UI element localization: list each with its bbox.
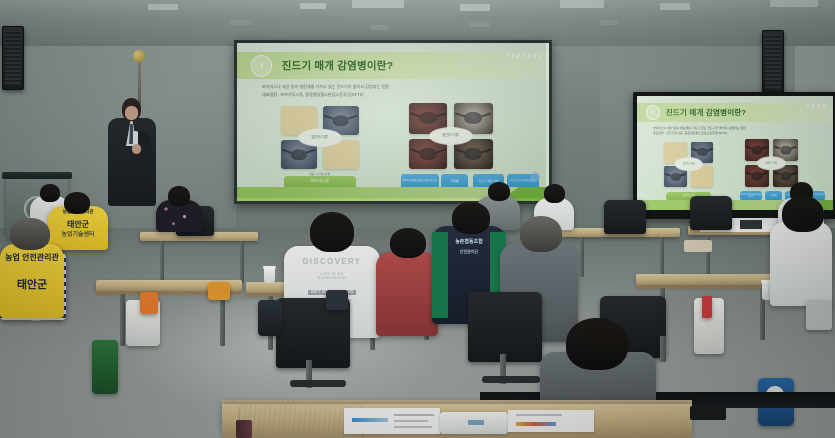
monitor-slide-number-badge: I bbox=[646, 105, 660, 119]
ceiling-light bbox=[560, 0, 604, 8]
attendee-head bbox=[390, 228, 426, 258]
slide-header: I 진드기 매개 감염병이란? bbox=[237, 52, 549, 79]
desk-leg bbox=[660, 237, 664, 277]
ceiling-vent bbox=[370, 25, 388, 30]
flag-finial bbox=[133, 50, 145, 62]
second-paper-color-bar bbox=[516, 422, 556, 426]
attendee-head bbox=[782, 196, 824, 232]
lecture-room-photo: I 진드기 매개 감염병이란? 바이러스나 세균 등의 병원체를 가지고 있는 … bbox=[0, 0, 835, 438]
ceiling-light bbox=[460, 4, 490, 11]
ceiling-vent bbox=[600, 20, 618, 25]
paper-cup-lip bbox=[263, 266, 276, 269]
ceiling-vent bbox=[230, 20, 252, 25]
desk-leg bbox=[160, 241, 164, 283]
ceiling-vent bbox=[470, 22, 490, 27]
foreground-attendee-head bbox=[566, 318, 628, 370]
attendee-head bbox=[488, 182, 510, 201]
ceiling-light bbox=[660, 3, 690, 10]
backpack bbox=[258, 300, 282, 336]
vest-label-org-1: 농촌협동조합 bbox=[432, 240, 506, 245]
white-object-marking bbox=[468, 420, 484, 425]
lectern-top bbox=[2, 172, 72, 179]
chair-base bbox=[482, 376, 540, 383]
ceiling-light bbox=[148, 4, 178, 10]
attendee-head bbox=[10, 218, 50, 250]
presenter-hand bbox=[132, 144, 141, 154]
second-paper-line bbox=[516, 414, 562, 416]
vest-label-org-2: 안전관리단 bbox=[432, 250, 506, 254]
monitor-left-image-group: 털진드기류 bbox=[664, 142, 713, 188]
desk-leg bbox=[240, 241, 244, 283]
vest-label-county: 태안군 bbox=[0, 280, 64, 291]
attendee-head bbox=[452, 202, 490, 234]
slide-decor-dot bbox=[530, 172, 540, 182]
attendee-head bbox=[40, 184, 60, 202]
wall-speaker-right bbox=[762, 30, 784, 94]
slide-body: 바이러스나 세균 등의 병원체를 가지고 있는 진드기가 물어서 감염되는 질환… bbox=[262, 84, 524, 98]
monitor-slide-title: 진드기 매개 감염병이란? bbox=[666, 107, 746, 118]
chair bbox=[604, 200, 646, 234]
chair bbox=[690, 196, 732, 230]
left-image-group: 털진드기류 유충 시기에 흡혈 bbox=[281, 106, 359, 169]
right-image-group: 참진드기류 bbox=[409, 103, 493, 169]
monitor-slide-body: 바이러스나 세균 등의 병원체를 가지고 있는 진드기가 물어서 감염되는 질환… bbox=[653, 126, 818, 135]
chair-base bbox=[290, 380, 346, 387]
paper-cup bbox=[264, 268, 275, 283]
slide-number-badge: I bbox=[251, 55, 272, 76]
booklet-spine bbox=[236, 420, 252, 438]
attendee-head bbox=[64, 192, 90, 214]
wall-speaker-left bbox=[2, 26, 24, 90]
vest-label-center: 농업기술센터 bbox=[48, 232, 108, 238]
photo-cell-tick bbox=[745, 165, 769, 187]
item-on-desk bbox=[684, 240, 712, 252]
ceiling-light bbox=[352, 0, 404, 8]
bag-strap-red bbox=[702, 296, 712, 318]
monitor-right-image-group: 참진드기류 bbox=[745, 139, 798, 187]
ceiling-light bbox=[300, 3, 326, 9]
slide-content: I 진드기 매개 감염병이란? 바이러스나 세균 등의 병원체를 가지고 있는 … bbox=[237, 43, 549, 201]
presenter-face bbox=[125, 106, 138, 120]
bag-tan bbox=[208, 282, 230, 300]
bag-light bbox=[806, 300, 832, 330]
chair-post bbox=[660, 336, 666, 362]
vest-label-role: 농업 안전관리관 bbox=[0, 254, 64, 262]
bag-orange bbox=[140, 292, 158, 314]
right-group-label: 참진드기류 bbox=[430, 128, 472, 144]
chair bbox=[468, 292, 542, 362]
bag-dark bbox=[326, 290, 348, 310]
monitor-body-line-1: 바이러스나 세균 등의 병원체를 가지고 있는 진드기가 물어서 감염되는 질환 bbox=[653, 126, 818, 130]
monitor-left-group-label: 털진드기류 bbox=[676, 158, 702, 170]
tshirt-line-3: EXPERIENCE bbox=[284, 276, 380, 280]
handout-text-line bbox=[394, 414, 434, 416]
flag-pole bbox=[138, 56, 141, 108]
attendee-head bbox=[544, 184, 565, 203]
attendee-head bbox=[168, 186, 190, 206]
desk-leg bbox=[220, 294, 225, 346]
chevron-decor-icon bbox=[507, 54, 541, 58]
attendee-head bbox=[310, 212, 354, 252]
monitor-slide-header: I 진드기 매개 감염병이란? bbox=[637, 103, 833, 122]
vest-label-county: 태안군 bbox=[48, 221, 108, 229]
attendee-head bbox=[520, 216, 562, 252]
desk-leg bbox=[580, 237, 584, 277]
attendee-torso-red bbox=[376, 252, 438, 336]
attendee-vest-yellow-front: 농업 안전관리관 태안군 bbox=[0, 244, 64, 318]
monitor-body-line-2: 대표질환 : 쯔쯔가무시증, 중증열성혈소판감소증후군(SFTS) bbox=[653, 131, 818, 135]
attendee-torso-white bbox=[770, 222, 832, 306]
projection-screen: I 진드기 매개 감염병이란? 바이러스나 세균 등의 병원체를 가지고 있는 … bbox=[234, 40, 552, 204]
desk-leg bbox=[120, 294, 125, 346]
slide-title: 진드기 매개 감염병이란? bbox=[282, 58, 393, 73]
ceiling-light bbox=[770, 0, 818, 7]
tshirt-brand: DISCOVERY bbox=[284, 258, 380, 267]
slide-body-line-1: 바이러스나 세균 등의 병원체를 가지고 있는 진드기가 물어서 감염되는 질환 bbox=[262, 84, 524, 90]
handout-text-line bbox=[394, 426, 432, 428]
document-photo bbox=[740, 220, 762, 229]
handout-accent-bar bbox=[352, 418, 388, 422]
slide-body-line-2: 대표질환 : 쯔쯔가무시증, 중증열성혈소판감소증후군(SFTS) bbox=[262, 92, 524, 98]
handout-text-line bbox=[394, 420, 428, 422]
desk-grommet bbox=[690, 406, 726, 420]
monitor-chevron-icon bbox=[807, 104, 829, 107]
bag-green bbox=[92, 340, 118, 394]
